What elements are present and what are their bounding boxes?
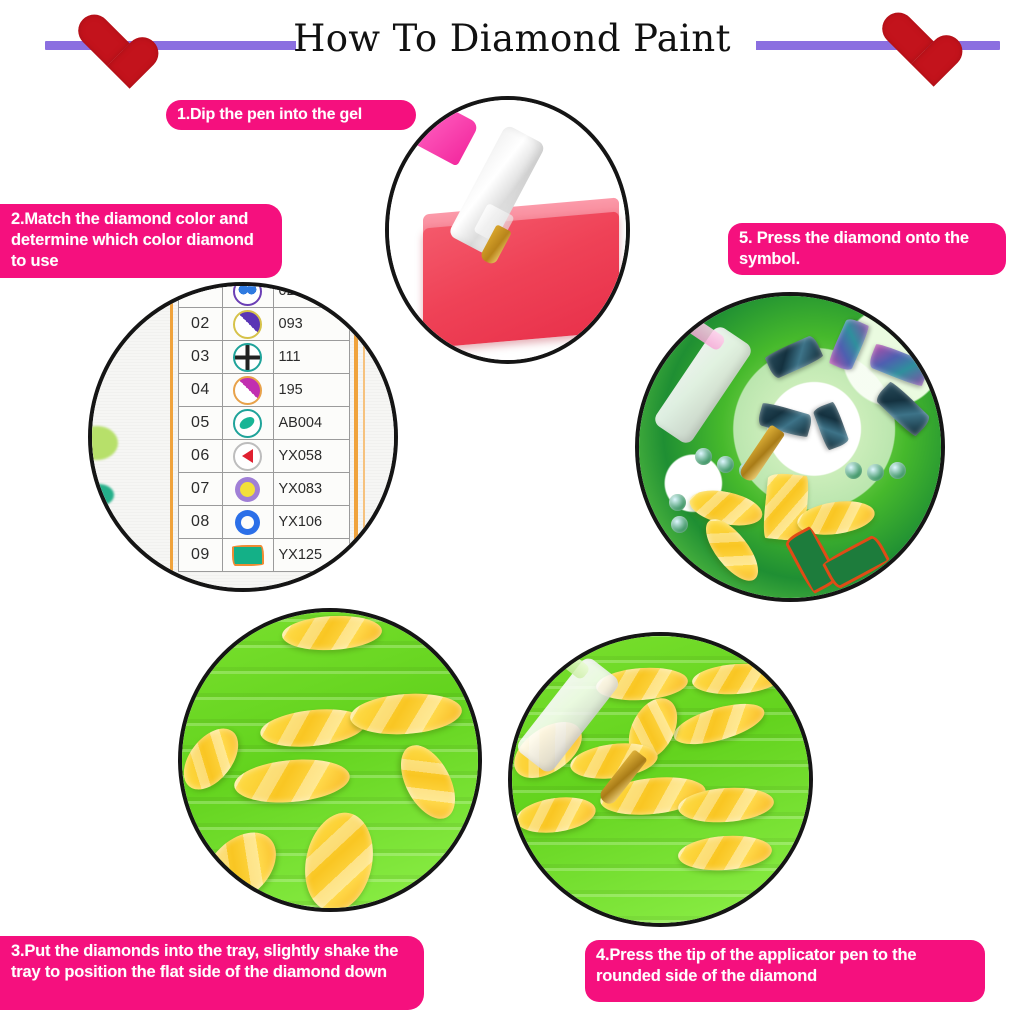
chart-row-code: YX058 — [273, 440, 349, 473]
table-row: 07 YX083 — [179, 473, 350, 506]
placing-diamond-on-canvas-photo — [639, 296, 941, 598]
chart-row-number: 06 — [179, 440, 223, 473]
canvas-round-gem — [669, 494, 686, 511]
canvas-round-gem — [671, 516, 688, 533]
chart-margin-rule — [354, 286, 358, 588]
yellow-gem — [296, 806, 381, 912]
yellow-gem — [349, 690, 464, 738]
step-5-label: 5. Press the diamond onto the symbol. — [728, 223, 1006, 275]
canvas-round-gem — [867, 464, 884, 481]
yellow-gem — [390, 736, 466, 827]
canvas-gem — [827, 317, 870, 373]
purple-triangle-circle-icon — [222, 308, 273, 341]
table-row: 05 AB004 — [179, 407, 350, 440]
page-title: How To Diamond Paint — [0, 17, 1024, 61]
chart-row-code: YX106 — [273, 506, 349, 539]
yellow-dot-purple-ring-icon — [222, 473, 273, 506]
canvas-round-gem — [695, 448, 712, 465]
chart-row-code: AB004 — [273, 407, 349, 440]
red-arrow-circle-icon — [222, 440, 273, 473]
yellow-gem — [232, 755, 351, 807]
step-2-photo: 028 02 093 03 111 — [88, 282, 398, 592]
canvas-gem — [874, 380, 932, 438]
step-2-label: 2.Match the diamond color and determine … — [0, 204, 282, 278]
chart-row-number: 07 — [179, 473, 223, 506]
chart-row-number: 04 — [179, 374, 223, 407]
chart-row-number: 02 — [179, 308, 223, 341]
teal-leaf-orange-outline-icon — [222, 539, 273, 572]
chart-row-number: 08 — [179, 506, 223, 539]
yellow-diamonds-in-green-tray-photo — [182, 612, 478, 908]
chart-row-code: 111 — [273, 341, 349, 374]
chart-row-code: YX125 — [273, 539, 349, 572]
table-row: 03 111 — [179, 341, 350, 374]
magenta-triangle-circle-icon — [222, 374, 273, 407]
table-row: 04 195 — [179, 374, 350, 407]
canvas-printed-petal — [821, 533, 891, 590]
step-4-photo — [508, 632, 813, 927]
yellow-gem — [281, 613, 383, 652]
chart-row-code: 028 — [273, 282, 349, 308]
chart-row-code: YX083 — [273, 473, 349, 506]
chart-row-number: 05 — [179, 407, 223, 440]
table-row: 06 YX058 — [179, 440, 350, 473]
step-5-photo — [635, 292, 945, 602]
yellow-gem — [514, 793, 598, 838]
chart-row-code: 195 — [273, 374, 349, 407]
step-1-photo — [385, 96, 630, 364]
step-3-label: 3.Put the diamonds into the tray, slight… — [0, 936, 424, 1010]
chart-row-number: 03 — [179, 341, 223, 374]
plus-cross-circle-icon — [222, 341, 273, 374]
color-chart-symbol-table-photo: 028 02 093 03 111 — [92, 286, 394, 588]
teal-oval-circle-icon — [222, 407, 273, 440]
chart-margin-rule — [170, 286, 173, 588]
chart-row-number: 09 — [179, 539, 223, 572]
pen-picking-up-diamond-photo — [512, 636, 809, 923]
canvas-round-gem — [889, 462, 906, 479]
canvas-gem — [764, 334, 824, 380]
chart-row-number — [179, 282, 223, 308]
infographic-canvas: How To Diamond Paint 1.Dip the pen into … — [0, 0, 1024, 1024]
blue-ring-icon — [222, 506, 273, 539]
canvas-gem — [867, 342, 931, 388]
table-row: 028 — [179, 282, 350, 308]
applicator-pen-pink-cap — [415, 102, 480, 167]
pen-dipping-into-pink-gel-photo — [389, 100, 626, 360]
canvas-round-gem — [845, 462, 862, 479]
chart-margin-rule — [363, 286, 365, 588]
table-row: 09 YX125 — [179, 539, 350, 572]
yellow-gem — [190, 819, 289, 912]
table-row: 08 YX106 — [179, 506, 350, 539]
chart-row-code: 093 — [273, 308, 349, 341]
step-4-label: 4.Press the tip of the applicator pen to… — [585, 940, 985, 1002]
table-row: 02 093 — [179, 308, 350, 341]
step-1-label: 1.Dip the pen into the gel — [166, 100, 416, 130]
two-dots-circle-icon — [222, 282, 273, 308]
yellow-gem — [691, 661, 783, 697]
yellow-gem — [677, 833, 773, 873]
color-chart-table: 028 02 093 03 111 — [178, 282, 350, 572]
canvas-round-gem — [717, 456, 734, 473]
step-3-photo — [178, 608, 482, 912]
yellow-gem — [669, 696, 768, 753]
canvas-gem — [812, 401, 850, 451]
